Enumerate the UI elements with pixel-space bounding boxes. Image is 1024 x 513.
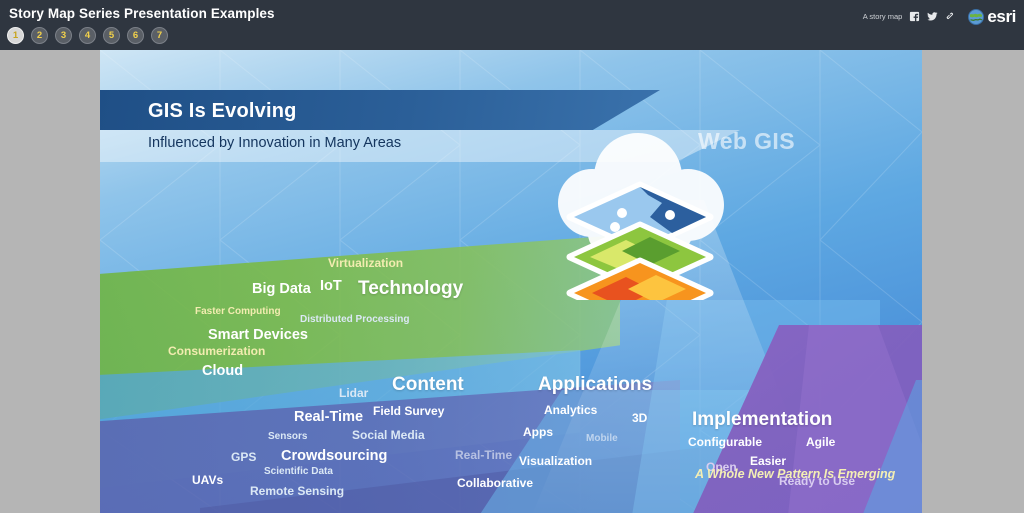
twitter-icon[interactable] xyxy=(927,11,938,22)
nav-pill-1[interactable]: 1 xyxy=(7,27,24,44)
page-title: Story Map Series Presentation Examples xyxy=(9,6,275,21)
slide-navigation[interactable]: 1 2 3 4 5 6 7 xyxy=(7,27,168,44)
app-header: Story Map Series Presentation Examples 1… xyxy=(0,0,1024,50)
word-collaborative: Collaborative xyxy=(457,476,533,490)
cluster-heading-technology: Technology xyxy=(358,278,463,300)
word-consumerization: Consumerization xyxy=(168,344,265,358)
esri-logo[interactable]: esri xyxy=(968,8,1016,25)
slide-title: GIS Is Evolving xyxy=(148,100,297,123)
esri-wordmark: esri xyxy=(987,8,1016,25)
slide-tagline: A Whole New Pattern Is Emerging xyxy=(695,467,895,481)
word-smart-devices: Smart Devices xyxy=(208,327,308,343)
nav-pill-3[interactable]: 3 xyxy=(55,27,72,44)
link-icon[interactable] xyxy=(945,11,956,22)
word-cloud: Cloud xyxy=(202,363,243,379)
word-distributed-processing: Distributed Processing xyxy=(300,314,409,325)
header-actions: A story map esri xyxy=(863,8,1016,25)
word-iot: IoT xyxy=(320,278,342,294)
word-scientific-data: Scientific Data xyxy=(264,466,333,477)
word-configurable: Configurable xyxy=(688,435,762,449)
cluster-heading-implementation: Implementation xyxy=(692,409,832,431)
facebook-icon[interactable] xyxy=(909,11,920,22)
word-analytics: Analytics xyxy=(544,403,597,417)
word-mobile: Mobile xyxy=(586,433,618,444)
word-crowdsourcing: Crowdsourcing xyxy=(281,448,387,464)
slide-canvas: GIS Is Evolving Influenced by Innovation… xyxy=(100,50,922,513)
nav-pill-4[interactable]: 4 xyxy=(79,27,96,44)
nav-pill-2[interactable]: 2 xyxy=(31,27,48,44)
word-apps: Apps xyxy=(523,425,553,439)
word-faster-computing: Faster Computing xyxy=(195,306,281,317)
word-sensors: Sensors xyxy=(268,431,307,442)
nav-pill-7[interactable]: 7 xyxy=(151,27,168,44)
cluster-heading-applications: Applications xyxy=(538,374,652,396)
word-easier: Easier xyxy=(750,454,786,468)
word-uavs: UAVs xyxy=(192,473,223,487)
word-real-time-applications: Real-Time xyxy=(455,448,512,462)
word-visualization: Visualization xyxy=(519,454,592,468)
slide-subtitle: Influenced by Innovation in Many Areas xyxy=(148,135,401,151)
word-social-media: Social Media xyxy=(352,428,425,442)
word-3d: 3D xyxy=(632,411,647,425)
word-big-data: Big Data xyxy=(252,281,311,297)
cluster-heading-content: Content xyxy=(392,374,464,396)
nav-pill-6[interactable]: 6 xyxy=(127,27,144,44)
word-field-survey: Field Survey xyxy=(373,404,444,418)
word-real-time-content: Real-Time xyxy=(294,409,363,425)
word-gps: GPS xyxy=(231,450,256,464)
word-lidar: Lidar xyxy=(339,386,368,400)
word-virtualization: Virtualization xyxy=(328,256,403,270)
word-remote-sensing: Remote Sensing xyxy=(250,484,344,498)
nav-pill-5[interactable]: 5 xyxy=(103,27,120,44)
esri-globe-icon xyxy=(968,9,984,25)
gis-layers-cloud-icon xyxy=(530,125,750,300)
story-map-label: A story map xyxy=(863,12,903,21)
word-agile: Agile xyxy=(806,435,835,449)
